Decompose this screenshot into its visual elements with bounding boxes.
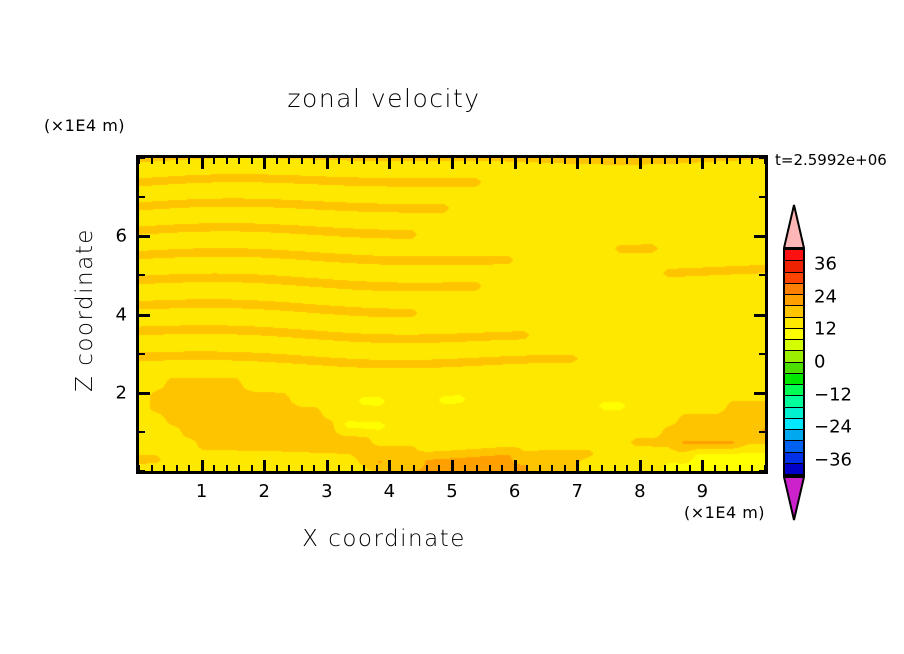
x-major-tick [451,460,454,471]
x-minor-tick [188,158,190,164]
x-minor-tick [476,465,478,471]
x-minor-tick [301,158,303,164]
x-minor-tick [351,158,353,164]
x-major-tick [201,158,204,169]
x-major-tick [701,158,704,169]
x-axis-unit-label: (×1E4 m) [684,503,765,522]
plot-area [136,155,768,474]
x-tick-label: 9 [697,481,708,502]
x-minor-tick [589,158,591,164]
y-major-tick [754,314,765,317]
x-minor-tick [739,158,741,164]
colorbar-band [785,305,803,316]
y-minor-tick [139,157,145,159]
y-minor-tick [139,274,145,276]
x-major-tick [576,460,579,471]
x-minor-tick [501,465,503,471]
x-minor-tick [601,158,603,164]
y-major-tick [754,235,765,238]
x-minor-tick [464,158,466,164]
x-minor-tick [151,158,153,164]
colorbar-band [785,373,803,384]
colorbar-tick-label: 12 [814,319,837,340]
x-minor-tick [363,158,365,164]
x-minor-tick [664,465,666,471]
contour-plot-figure: zonal velocity (×1E4 m) t=2.5992e+06 123… [0,0,904,654]
y-minor-tick [759,196,765,198]
x-minor-tick [338,465,340,471]
x-minor-tick [626,465,628,471]
x-tick-label: 4 [384,481,395,502]
x-minor-tick [626,158,628,164]
y-axis-title: Z coordinate [72,210,98,410]
colorbar-band [785,317,803,328]
x-minor-tick [251,158,253,164]
x-minor-tick [501,158,503,164]
x-minor-tick [714,158,716,164]
x-major-tick [514,158,517,169]
x-minor-tick [313,158,315,164]
x-major-tick [326,158,329,169]
x-minor-tick [589,465,591,471]
x-minor-tick [564,158,566,164]
y-minor-tick [759,157,765,159]
colorbar-band [785,440,803,451]
y-minor-tick [759,431,765,433]
x-minor-tick [438,465,440,471]
colorbar-band [785,362,803,373]
x-minor-tick [176,158,178,164]
colorbar-tick-label: −12 [814,384,852,405]
x-minor-tick [351,465,353,471]
y-tick-label: 6 [97,226,127,247]
colorbar-band [785,260,803,271]
x-minor-tick [276,465,278,471]
x-tick-label: 5 [446,481,457,502]
x-minor-tick [376,158,378,164]
x-minor-tick [301,465,303,471]
x-major-tick [326,460,329,471]
x-major-tick [388,460,391,471]
y-major-tick [139,314,150,317]
x-minor-tick [714,465,716,471]
colorbar-band [785,294,803,305]
x-minor-tick [213,158,215,164]
page-title: zonal velocity [0,84,768,113]
y-minor-tick [139,431,145,433]
x-tick-label: 8 [634,481,645,502]
x-minor-tick [676,158,678,164]
colorbar-band [785,395,803,406]
x-minor-tick [526,465,528,471]
x-minor-tick [251,465,253,471]
y-tick-label: 4 [97,304,127,325]
y-major-tick [139,392,150,395]
x-minor-tick [213,465,215,471]
time-annotation: t=2.5992e+06 [775,151,887,169]
x-minor-tick [226,465,228,471]
x-minor-tick [689,158,691,164]
x-minor-tick [176,465,178,471]
x-tick-label: 2 [258,481,269,502]
colorbar-band [785,272,803,283]
colorbar-tick-label: 0 [814,352,825,373]
colorbar-tick-label: 36 [814,254,837,275]
x-minor-tick [376,465,378,471]
x-tick-label: 6 [509,481,520,502]
x-minor-tick [564,465,566,471]
x-minor-tick [739,465,741,471]
x-minor-tick [238,465,240,471]
x-major-tick [388,158,391,169]
y-minor-tick [139,196,145,198]
x-major-tick [451,158,454,169]
x-minor-tick [551,465,553,471]
colorbar-over-arrow [783,204,805,248]
x-minor-tick [476,158,478,164]
x-minor-tick [413,158,415,164]
x-major-tick [576,158,579,169]
x-major-tick [263,158,266,169]
x-major-tick [514,460,517,471]
x-minor-tick [651,158,653,164]
x-minor-tick [238,158,240,164]
x-minor-tick [426,465,428,471]
y-axis-unit-label: (×1E4 m) [44,116,125,135]
x-major-tick [263,460,266,471]
x-minor-tick [489,158,491,164]
x-minor-tick [151,465,153,471]
x-minor-tick [288,158,290,164]
colorbar-band [785,418,803,429]
colorbar-band [785,429,803,440]
colorbar-under-arrow [783,476,805,520]
x-minor-tick [751,158,753,164]
x-minor-tick [163,465,165,471]
contour-field-canvas [139,158,765,471]
colorbar-band [785,350,803,361]
x-major-tick [639,460,642,471]
x-minor-tick [551,158,553,164]
x-minor-tick [401,158,403,164]
x-minor-tick [464,465,466,471]
x-minor-tick [438,158,440,164]
x-minor-tick [539,465,541,471]
colorbar [783,248,805,476]
colorbar-band [785,384,803,395]
x-minor-tick [413,465,415,471]
x-minor-tick [614,465,616,471]
x-minor-tick [188,465,190,471]
y-major-tick [754,392,765,395]
x-tick-label: 3 [321,481,332,502]
x-minor-tick [288,465,290,471]
colorbar-tick-label: 24 [814,286,837,307]
x-minor-tick [526,158,528,164]
x-tick-label: 7 [571,481,582,502]
x-minor-tick [226,158,228,164]
x-minor-tick [276,158,278,164]
x-minor-tick [338,158,340,164]
colorbar-tick-label: −36 [814,449,852,470]
x-major-tick [639,158,642,169]
y-tick-label: 2 [97,382,127,403]
x-major-tick [701,460,704,471]
x-minor-tick [163,158,165,164]
y-minor-tick [759,274,765,276]
x-minor-tick [601,465,603,471]
y-minor-tick [139,353,145,355]
y-minor-tick [139,470,145,472]
colorbar-band [785,250,803,260]
x-minor-tick [689,465,691,471]
colorbar-tick-label: −24 [814,417,852,438]
colorbar-band [785,283,803,294]
x-minor-tick [676,465,678,471]
x-minor-tick [539,158,541,164]
colorbar-band [785,339,803,350]
colorbar-band [785,328,803,339]
x-minor-tick [363,465,365,471]
x-minor-tick [726,158,728,164]
x-minor-tick [614,158,616,164]
x-minor-tick [664,158,666,164]
x-minor-tick [751,465,753,471]
y-minor-tick [759,353,765,355]
x-minor-tick [313,465,315,471]
y-major-tick [139,235,150,238]
x-minor-tick [489,465,491,471]
colorbar-band [785,452,803,463]
x-major-tick [201,460,204,471]
x-minor-tick [726,465,728,471]
x-minor-tick [651,465,653,471]
colorbar-band [785,463,803,474]
colorbar-band [785,407,803,418]
x-tick-label: 1 [196,481,207,502]
x-minor-tick [401,465,403,471]
x-axis-title: X coordinate [0,526,768,552]
y-minor-tick [759,470,765,472]
x-minor-tick [426,158,428,164]
